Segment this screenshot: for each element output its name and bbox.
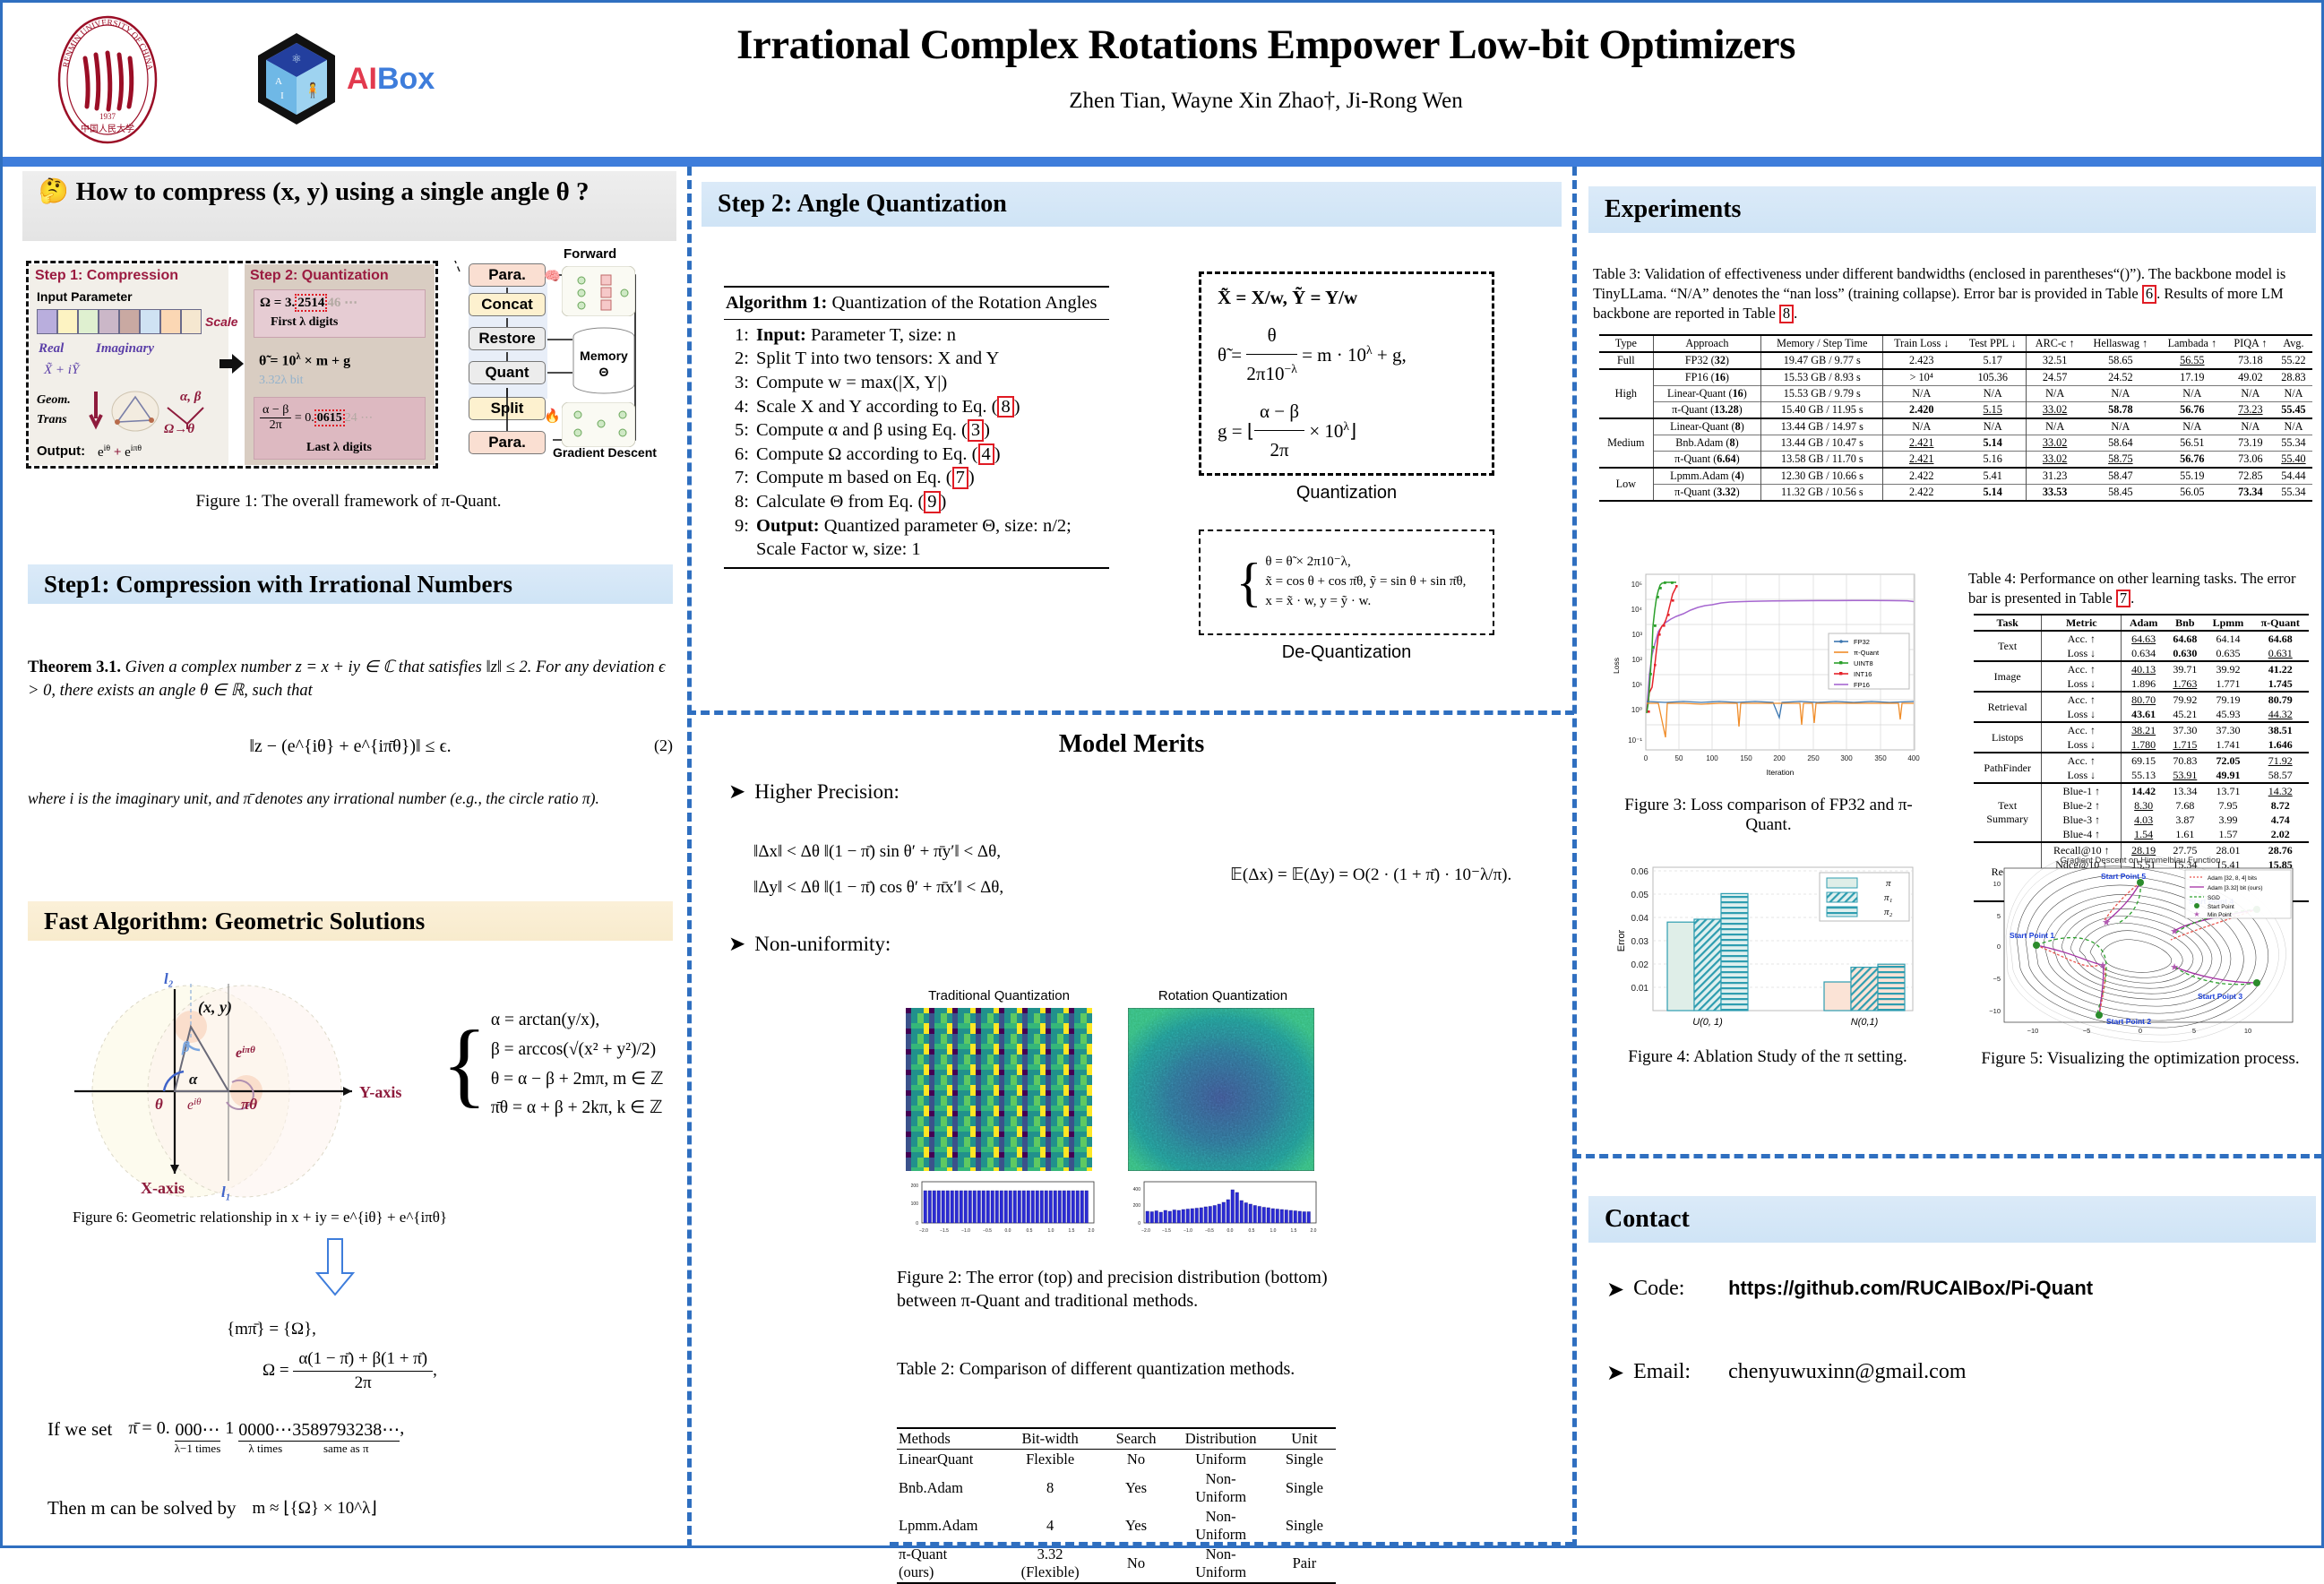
poster-root: 1937 中国人民大学 RENMIN UNIVERSITY OF CHINA ⚛… xyxy=(0,0,2324,1548)
svg-text:1.5: 1.5 xyxy=(1291,1228,1297,1234)
experiments-banner: Experiments xyxy=(1588,186,2316,233)
quantization-box: X̃ = X/w, Ỹ = Y/w θ̃ = θ 2π10−λ = m · 10… xyxy=(1199,271,1494,476)
table3-cell: 5.16 xyxy=(1959,452,2027,469)
svg-text:−1.0: −1.0 xyxy=(1184,1228,1192,1234)
table4-cell: 4.74 xyxy=(2251,813,2309,827)
experiments-banner-text: Experiments xyxy=(1605,195,1741,224)
page-title: Irrational Complex Rotations Empower Low… xyxy=(504,21,2027,69)
svg-text:1.0: 1.0 xyxy=(1270,1228,1277,1234)
bullet-arrow-icon: ➤ xyxy=(728,933,745,956)
figure1: Step 1: Compression Input Parameter Scal… xyxy=(26,261,671,503)
merit-non-uniformity: ➤ Non-uniformity: xyxy=(728,933,891,956)
table4-cell: 4.03 xyxy=(2122,813,2165,827)
svg-text:(x, y): (x, y) xyxy=(198,998,232,1017)
table4-cell: 3.99 xyxy=(2205,813,2252,827)
table3-memory-cell: 13.58 GB / 11.70 s xyxy=(1761,452,1883,469)
contact-email-row: ➤ Email: chenyuwuxinn@gmail.com xyxy=(1606,1360,1967,1386)
algo-line-num: 7: xyxy=(724,466,749,490)
table3-cell: 73.34 xyxy=(2226,485,2275,502)
table-row: TextAcc. ↑64.6364.6864.1464.68 xyxy=(1974,631,2309,646)
eq-ref-8[interactable]: 8 xyxy=(997,396,1013,418)
svg-text:0.0: 0.0 xyxy=(1005,1228,1011,1234)
figure5-annotation: Start Point 3 xyxy=(2198,992,2242,1001)
table3-cell: 31.23 xyxy=(2027,468,2083,485)
svg-text:0.02: 0.02 xyxy=(1631,960,1649,970)
table3-approach-cell: FP16 (16) xyxy=(1653,369,1761,386)
pibar-under-1: λ−1 times xyxy=(175,1442,221,1456)
svg-text:−1.5: −1.5 xyxy=(1162,1228,1171,1234)
table3-header-cell: Memory / Step Time xyxy=(1761,335,1883,352)
memory-label: Memory xyxy=(572,349,635,363)
table3-cell: 2.422 xyxy=(1883,485,1959,502)
svg-text:−2.0: −2.0 xyxy=(1141,1228,1150,1234)
chip xyxy=(99,309,119,334)
merit-non-uniformity-label: Non-uniformity: xyxy=(754,933,891,956)
svg-text:U(0, 1): U(0, 1) xyxy=(1692,1017,1723,1028)
table3-memory-cell: 12.30 GB / 10.66 s xyxy=(1761,468,1883,485)
table-row: RetrievalAcc. ↑80.7079.9279.1980.79 xyxy=(1974,692,2309,707)
figure1-caption: Figure 1: The overall framework of π-Qua… xyxy=(26,492,671,512)
table4-cell: 43.61 xyxy=(2122,707,2165,722)
table4-cell: 14.42 xyxy=(2122,783,2165,798)
figure1-input-parameter-label: Input Parameter xyxy=(37,289,133,304)
table2-cell: Bnb.Adam xyxy=(897,1469,997,1507)
algo-line-num: 5: xyxy=(724,418,749,443)
fig6-eq-2: β = arccos(√(x² + y²)/2) xyxy=(491,1036,664,1065)
table3-cell: 5.14 xyxy=(1959,435,2027,452)
algo-line-text: Calculate Θ from Eq. ( xyxy=(756,492,924,512)
svg-text:0.0: 0.0 xyxy=(1227,1228,1234,1234)
table3-approach-cell: Lpmm.Adam (4) xyxy=(1653,468,1761,485)
table4-cell: 45.93 xyxy=(2205,707,2252,722)
table4-cell: 1.771 xyxy=(2205,676,2252,692)
table3-cell: N/A xyxy=(1959,418,2027,435)
table4-metric-cell: Blue-2 ↑ xyxy=(2042,798,2122,813)
table3-cell: N/A xyxy=(2083,386,2158,402)
step1-banner-text: Step1: Compression with Irrational Numbe… xyxy=(44,571,512,598)
svg-text:−10: −10 xyxy=(1989,1007,2001,1015)
table3-cell: 32.51 xyxy=(2027,352,2083,369)
figure1-first-digits-label: First λ digits xyxy=(271,315,338,330)
table3-cell: N/A xyxy=(2275,386,2312,402)
algorithm-block: Algorithm 1: Quantization of the Rotatio… xyxy=(724,286,1109,569)
question-banner: 🤔 How to compress (x, y) using a single … xyxy=(22,171,676,241)
theorem-label: Theorem 3.1. xyxy=(28,659,121,676)
table4-metric-cell: Acc. ↑ xyxy=(2042,692,2122,707)
table4-cell: 70.83 xyxy=(2165,753,2204,768)
table3-cell: 56.51 xyxy=(2158,435,2226,452)
table2-cell: Non-Uniform xyxy=(1168,1507,1272,1545)
figure5-annotation: Start Point 1 xyxy=(2010,931,2054,940)
chip xyxy=(37,309,57,334)
algo-line-num: 2: xyxy=(724,347,749,371)
figure6: l₂ (x, y) β α θ eiθ eiπθ πθ Y-axis X-axi… xyxy=(56,957,415,1208)
figure2-right-title: Rotation Quantization xyxy=(1123,988,1323,1003)
table4-header-cell: π-Quant xyxy=(2251,615,2309,631)
table3-cell: 56.76 xyxy=(2158,452,2226,469)
svg-text:0.05: 0.05 xyxy=(1631,891,1649,900)
figure3: 10⁵10⁴10³ 10²10¹10⁰10⁻¹ 050100150 200250… xyxy=(1603,567,1934,791)
svg-text:−1.5: −1.5 xyxy=(940,1228,949,1234)
table-row: TextSummaryBlue-1 ↑14.4213.3413.7114.32 xyxy=(1974,783,2309,798)
table3-header-cell: Train Loss ↓ xyxy=(1883,335,1959,352)
table3-memory-cell: 15.53 GB / 9.79 s xyxy=(1761,386,1883,402)
table2-caption: Table 2: Comparison of different quantiz… xyxy=(897,1357,1336,1381)
theorem-block: Theorem 3.1. Given a complex number z = … xyxy=(28,657,673,808)
table3-cell: 33.02 xyxy=(2027,402,2083,419)
svg-text:Y-axis: Y-axis xyxy=(359,1083,401,1101)
figure6-diagram: l₂ (x, y) β α θ eiθ eiπθ πθ Y-axis X-axi… xyxy=(56,957,415,1208)
table-row: Bnb.Adam (8)13.44 GB / 10.47 s2.4215.143… xyxy=(1599,435,2312,452)
svg-text:0.04: 0.04 xyxy=(1631,914,1649,924)
table3-cell: 73.19 xyxy=(2226,435,2275,452)
algo-line-num: 3: xyxy=(724,371,749,395)
table4-cell: 0.630 xyxy=(2165,646,2204,661)
contact-banner-text: Contact xyxy=(1605,1205,1690,1234)
table3-type-cell: High xyxy=(1599,369,1653,418)
merit-higher-precision: ➤ Higher Precision: xyxy=(728,780,899,804)
figure1-down-arrow-icon xyxy=(89,392,107,431)
table3: Type Approach Memory / Step Time Train L… xyxy=(1599,334,2312,502)
svg-text:200: 200 xyxy=(911,1184,919,1189)
eq-ref-4[interactable]: 4 xyxy=(978,443,994,466)
table3-cell: N/A xyxy=(2226,418,2275,435)
table3-cell: 54.44 xyxy=(2275,468,2312,485)
bullet-arrow-icon: ➤ xyxy=(1606,1277,1624,1303)
table2-cell: Non-Uniform xyxy=(1168,1545,1272,1583)
table2-cell: Lpmm.Adam xyxy=(897,1507,997,1545)
table2-cell: Single xyxy=(1273,1450,1336,1470)
question-banner-text: How to compress (x, y) using a single an… xyxy=(76,176,590,208)
svg-text:FP32: FP32 xyxy=(1854,638,1870,646)
table4-cell: 39.71 xyxy=(2165,661,2204,676)
table3-memory-cell: 11.32 GB / 10.56 s xyxy=(1761,485,1883,502)
table4-cell: 44.32 xyxy=(2251,707,2309,722)
table4-cell: 64.68 xyxy=(2165,631,2204,646)
pibar-under-3: same as π xyxy=(292,1442,400,1456)
figure1-trans-label: Trans xyxy=(37,413,67,427)
table4-cell: 1.896 xyxy=(2122,676,2165,692)
algo-line-text: Compute m based on Eq. ( xyxy=(756,468,952,487)
table2-cell: 8 xyxy=(997,1469,1104,1507)
svg-text:0.03: 0.03 xyxy=(1631,937,1649,947)
svg-text:−1.0: −1.0 xyxy=(961,1228,970,1234)
table3-header-cell: ARC-c ↑ xyxy=(2027,335,2083,352)
table-row: LinearQuant Flexible No Uniform Single xyxy=(897,1450,1336,1470)
figure5-plot: Gradient Descent on Himmelblau Function xyxy=(1972,854,2309,1051)
table4-metric-cell: Blue-3 ↑ xyxy=(2042,813,2122,827)
thinking-face-icon: 🤔 xyxy=(39,176,69,206)
table4-task-cell: TextSummary xyxy=(1974,783,2042,842)
table4-cell: 2.02 xyxy=(2251,827,2309,842)
quant-eq-2: θ̃ = θ 2π10−λ = m · 10λ + g, xyxy=(1218,316,1492,392)
table4-metric-cell: Loss ↓ xyxy=(2042,676,2122,692)
figure1-last-digits-label: Last λ digits xyxy=(306,441,372,455)
table4-header-cell: Task xyxy=(1974,615,2042,631)
table2-cell: LinearQuant xyxy=(897,1450,997,1470)
algo-line-num: 1: xyxy=(724,323,749,348)
table4-cell: 79.19 xyxy=(2205,692,2252,707)
contact-email-label: Email: xyxy=(1633,1360,1712,1384)
svg-text:2.0: 2.0 xyxy=(1089,1228,1095,1234)
merit-higher-precision-label: Higher Precision: xyxy=(754,780,899,804)
table3-cell: 5.15 xyxy=(1959,402,2027,419)
table4-cell: 1.715 xyxy=(2165,737,2204,753)
figure4-caption: Figure 4: Ablation Study of the π settin… xyxy=(1606,1047,1929,1067)
table2-cell: Uniform xyxy=(1168,1450,1272,1470)
title-block: Irrational Complex Rotations Empower Low… xyxy=(504,21,2027,114)
svg-text:1937: 1937 xyxy=(99,112,116,121)
table-row: π-Quant (6.64)13.58 GB / 11.70 s2.4215.1… xyxy=(1599,452,2312,469)
table2-cell: Single xyxy=(1273,1469,1336,1507)
svg-text:400: 400 xyxy=(1133,1187,1141,1192)
algo-line-bold: Output: xyxy=(756,516,820,536)
table3-cell: 58.45 xyxy=(2083,485,2158,502)
table3-header-cell: Test PPL ↓ xyxy=(1959,335,2027,352)
table4-cell: 1.763 xyxy=(2165,676,2204,692)
figure1-chip-row xyxy=(37,309,202,334)
aibox-ai-text: AI xyxy=(347,62,377,96)
svg-text:100: 100 xyxy=(1706,754,1718,762)
svg-text:Min Point: Min Point xyxy=(2208,912,2232,918)
table3-cell: 73.06 xyxy=(2226,452,2275,469)
contact-code-row: ➤ Code: https://github.com/RUCAIBox/Pi-Q… xyxy=(1606,1277,2093,1303)
table4-cell: 58.57 xyxy=(2251,768,2309,783)
algo-line-text: Parameter T, size: n xyxy=(811,325,956,345)
svg-text:X-axis: X-axis xyxy=(141,1179,185,1197)
table3-header-cell: Lambada ↑ xyxy=(2158,335,2226,352)
svg-text:π₂: π₂ xyxy=(1884,907,1893,917)
table3-cell: N/A xyxy=(2083,418,2158,435)
svg-text:−5: −5 xyxy=(2083,1027,2091,1035)
table4-cell: 45.21 xyxy=(2165,707,2204,722)
svg-text:−5: −5 xyxy=(1993,975,2001,983)
table4-cell: 8.30 xyxy=(2122,798,2165,813)
svg-text:0: 0 xyxy=(1138,1221,1140,1227)
table3-cell: > 10⁴ xyxy=(1883,369,1959,386)
table4-cell: 64.14 xyxy=(2205,631,2252,646)
merit1-equations-left: ‖Δx‖ < Δθ ‖(1 − π̄) sin θ′ + π̄y′‖ < Δθ,… xyxy=(753,834,1139,906)
figure6-equations: { α = arctan(y/x), β = arccos(√(x² + y²)… xyxy=(442,1006,675,1123)
figure1-triangle-sketch-icon xyxy=(108,390,166,433)
table3-approach-cell: Linear-Quant (16) xyxy=(1653,386,1761,402)
svg-text:🧍: 🧍 xyxy=(304,82,322,99)
down-arrow-icon xyxy=(313,1237,357,1298)
svg-text:10³: 10³ xyxy=(1631,631,1642,639)
svg-text:350: 350 xyxy=(1874,754,1887,762)
contact-code-value[interactable]: https://github.com/RUCAIBox/Pi-Quant xyxy=(1728,1277,2093,1300)
table4-metric-cell: Loss ↓ xyxy=(2042,737,2122,753)
figure6-caption: Figure 6: Geometric relationship in x + … xyxy=(73,1209,503,1227)
table3-memory-cell: 13.44 GB / 14.97 s xyxy=(1761,418,1883,435)
table2-header-cell: Bit-width xyxy=(997,1428,1104,1450)
svg-text:−0.5: −0.5 xyxy=(1205,1228,1214,1234)
table3-caption-text: Table 3: Validation of effectiveness und… xyxy=(1593,265,2285,322)
figure1-xy-expression: X̃ + iỸ xyxy=(44,363,79,378)
table4-cell: 80.70 xyxy=(2122,692,2165,707)
figure1-output-value: eiθ + eiπθ xyxy=(98,443,142,461)
table4-cell: 14.32 xyxy=(2251,783,2309,798)
dequantization-box: { θ = θ̃ × 2π10⁻λ, x̃ = cos θ + cos π̄θ,… xyxy=(1199,529,1494,635)
algo-line-num: 8: xyxy=(724,490,749,514)
table-row: π-Quant (ours) 3.32 (Flexible) No Non-Un… xyxy=(897,1545,1336,1583)
table3-cell: N/A xyxy=(2027,386,2083,402)
table4-cell: 71.92 xyxy=(2251,753,2309,768)
figure2-left-histogram: 200 100 0 −2.0−1.5−1.0−0.5 0.00.51.01.52… xyxy=(899,1178,1099,1237)
table4-cell: 1.780 xyxy=(2122,737,2165,753)
table-row: Linear-Quant (16)15.53 GB / 9.79 sN/AN/A… xyxy=(1599,386,2312,402)
figure3-plot: 10⁵10⁴10³ 10²10¹10⁰10⁻¹ 050100150 200250… xyxy=(1603,567,1934,791)
fig6-eq-1: α = arctan(y/x), xyxy=(491,1006,664,1036)
svg-text:中国人民大学: 中国人民大学 xyxy=(81,123,134,134)
svg-text:α: α xyxy=(189,1071,198,1088)
table4-task-cell: Retrieval xyxy=(1974,692,2042,722)
chip xyxy=(119,309,140,334)
memory-cylinder-icon: Memory Θ xyxy=(572,327,635,395)
table-ref-8[interactable]: 8 xyxy=(1779,305,1794,323)
svg-text:0: 0 xyxy=(1644,754,1648,762)
bullet-arrow-icon: ➤ xyxy=(1606,1360,1624,1386)
svg-text:★: ★ xyxy=(2170,962,2179,973)
table4-cell: 7.95 xyxy=(2205,798,2252,813)
svg-text:★: ★ xyxy=(2098,960,2107,971)
algo-line-num: 9: xyxy=(724,514,749,562)
table3-cell: 56.76 xyxy=(2158,402,2226,419)
svg-text:π₁: π₁ xyxy=(1884,892,1893,903)
chip xyxy=(160,309,181,334)
figure1-step1-title: Step 1: Compression xyxy=(35,268,178,284)
svg-text:A: A xyxy=(275,76,282,87)
aibox-box-text: Box xyxy=(377,62,435,96)
svg-text:150: 150 xyxy=(1740,754,1752,762)
table3-cell: 2.421 xyxy=(1883,452,1959,469)
figure1-omega-callout: Ω = 3.251446 ⋯ First λ digits xyxy=(254,289,426,338)
table2-header-cell: Distribution xyxy=(1168,1428,1272,1450)
table-ref-6[interactable]: 6 xyxy=(2142,285,2156,304)
table4-cell: 1.741 xyxy=(2205,737,2252,753)
svg-text:10⁵: 10⁵ xyxy=(1631,581,1642,589)
table-ref-7[interactable]: 7 xyxy=(2116,590,2130,608)
eq-ref-7[interactable]: 7 xyxy=(952,467,968,489)
figure1-geom-label: Geom. xyxy=(37,393,71,408)
figure1-output-label: Output: xyxy=(37,443,85,459)
svg-text:0.01: 0.01 xyxy=(1631,984,1649,994)
merit1-equation-right: 𝔼(Δx) = 𝔼(Δy) = O(2 · (1 + π̄) · 10⁻λ/π)… xyxy=(1230,865,1562,885)
svg-text:0: 0 xyxy=(1997,943,2001,951)
table4-cell: 37.30 xyxy=(2165,722,2204,737)
forward-label: Forward xyxy=(564,246,616,262)
table4-cell: 38.21 xyxy=(2122,722,2165,737)
table3-cell: 55.34 xyxy=(2275,485,2312,502)
table2-header-cell: Unit xyxy=(1273,1428,1336,1450)
table2-cell: Single xyxy=(1273,1507,1336,1545)
figure5-legend: Adam [32, 8, 4] bits Adam [3.32] bit (ou… xyxy=(2185,870,2291,918)
quant-eq-3: g = ⌊ α − β 2π × 10λ⌋ xyxy=(1218,392,1492,469)
table4-header-cell: Bnb xyxy=(2165,615,2204,631)
table3-cell: N/A xyxy=(1883,386,1959,402)
table4-task-cell: Listops xyxy=(1974,722,2042,753)
table4-task-cell: Text xyxy=(1974,631,2042,661)
svg-text:−10: −10 xyxy=(2027,1027,2039,1035)
aibox-wordmark: AIBox xyxy=(347,62,435,97)
contact-email-value[interactable]: chenyuwuxinn@gmail.com xyxy=(1728,1360,1966,1384)
svg-text:0.5: 0.5 xyxy=(1249,1228,1255,1234)
table4-cell: 72.05 xyxy=(2205,753,2252,768)
table4-metric-cell: Loss ↓ xyxy=(2042,768,2122,783)
table3-cell: 2.420 xyxy=(1883,402,1959,419)
svg-text:β: β xyxy=(181,1038,190,1055)
table3-cell: 56.05 xyxy=(2158,485,2226,502)
memory-symbol: Θ xyxy=(572,365,635,379)
fast-algorithm-banner: Fast Algorithm: Geometric Solutions xyxy=(28,901,673,941)
table4-cell: 1.61 xyxy=(2165,827,2204,842)
author-list: Zhen Tian, Wayne Xin Zhao†, Ji-Rong Wen xyxy=(504,89,2027,114)
svg-text:10: 10 xyxy=(2244,1027,2251,1035)
table2-cell: Yes xyxy=(1104,1469,1169,1507)
table2-header-cell: Search xyxy=(1104,1428,1169,1450)
svg-text:300: 300 xyxy=(1840,754,1853,762)
algo-line-num: 6: xyxy=(724,443,749,467)
table3-cell: N/A xyxy=(2226,386,2275,402)
table3-cell: N/A xyxy=(1959,386,2027,402)
svg-text:1.0: 1.0 xyxy=(1048,1228,1054,1234)
bullet-arrow-icon: ➤ xyxy=(728,780,745,804)
table3-approach-cell: π-Quant (3.32) xyxy=(1653,485,1761,502)
svg-text:UINT8: UINT8 xyxy=(1854,659,1873,667)
eq-ref-9[interactable]: 9 xyxy=(924,491,940,513)
svg-text:0.5: 0.5 xyxy=(1027,1228,1033,1234)
table-row: HighFP16 (16)15.53 GB / 8.93 s> 10⁴105.3… xyxy=(1599,369,2312,386)
table3-cell: 105.36 xyxy=(1959,369,2027,386)
table2-cell: No xyxy=(1104,1545,1169,1583)
table3-header-cell: Avg. xyxy=(2275,335,2312,352)
table3-approach-cell: π-Quant (13.28) xyxy=(1653,402,1761,419)
algo-line-text: Split T into two tensors: X and Y xyxy=(756,347,999,371)
table3-cell: 2.423 xyxy=(1883,352,1959,369)
svg-text:250: 250 xyxy=(1807,754,1820,762)
eq-ref-3[interactable]: 3 xyxy=(968,419,984,442)
poster-header: 1937 中国人民大学 RENMIN UNIVERSITY OF CHINA ⚛… xyxy=(3,3,2321,157)
fig6-eq-4: π̄θ = α + β + 2kπ, k ∈ ℤ xyxy=(491,1094,664,1123)
svg-text:l₂: l₂ xyxy=(164,970,174,987)
table4-cell: 0.635 xyxy=(2205,646,2252,661)
svg-text:10: 10 xyxy=(1993,880,2001,888)
table3-header-cell: Approach xyxy=(1653,335,1761,352)
table4-cell: 3.87 xyxy=(2165,813,2204,827)
table4-task-cell: Image xyxy=(1974,661,2042,692)
svg-text:★: ★ xyxy=(2170,926,2179,937)
table3-type-cell: Medium xyxy=(1599,418,1653,468)
table3-cell: 24.57 xyxy=(2027,369,2083,386)
table3-grid: Type Approach Memory / Step Time Train L… xyxy=(1599,334,2312,502)
table3-cell: 49.02 xyxy=(2226,369,2275,386)
svg-text:10⁴: 10⁴ xyxy=(1631,606,1643,614)
svg-text:1.5: 1.5 xyxy=(1069,1228,1075,1234)
figure2-right-histogram: 400 200 0 −2.0−1.5−1.0−0.5 0.00.51.01.52… xyxy=(1121,1178,1321,1237)
figure5-annotation: Start Point 5 xyxy=(2101,872,2146,881)
table3-header-cell: PIQA ↑ xyxy=(2226,335,2275,352)
figure1-real-label: Real xyxy=(39,341,64,357)
fire-icon: 🔥 xyxy=(544,408,561,425)
chip xyxy=(181,309,202,334)
table2-cell: 3.32 (Flexible) xyxy=(997,1545,1104,1583)
svg-text:200: 200 xyxy=(1773,754,1786,762)
svg-text:0.06: 0.06 xyxy=(1631,867,1649,877)
figure4-legend: π π₁ π₂ xyxy=(1820,873,1909,921)
algorithm-title-bold: Algorithm 1: xyxy=(726,293,827,313)
table4-cell: 37.30 xyxy=(2205,722,2252,737)
table4-metric-cell: Acc. ↑ xyxy=(2042,631,2122,646)
